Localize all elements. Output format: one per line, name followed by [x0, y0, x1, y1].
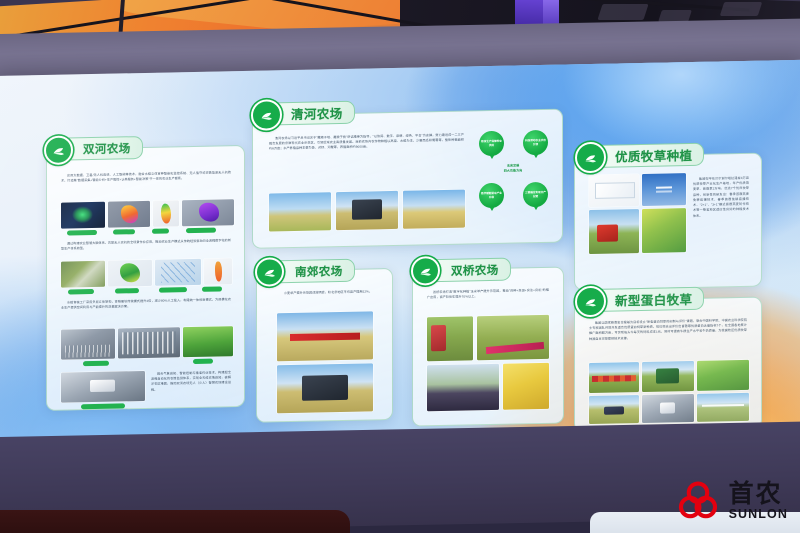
bubble-label: 粮食生产保障安全供给 [479, 140, 504, 148]
photo-soil-map [153, 200, 179, 227]
tab-label-qinghe: 清河农场 [291, 103, 343, 123]
protein-paragraph: 集团以国家粮食安全根基为目标设立"新型蛋白饲草的创制与评价"课题，联合中国科学院… [589, 318, 747, 342]
logo-chinese-name: 首农 [729, 481, 788, 506]
panel-quality-forage: 集团在呼伦贝尔谢尔塔拉建有3万亩优质牧草产业化生产基地，年产优质燕麦草、苜蓿草2… [574, 153, 762, 291]
photo-growth-diagnosis-map [182, 199, 234, 226]
photo-spray-drone [642, 173, 686, 206]
bubble-label: 科技带动农业示范引领 [523, 139, 548, 147]
logo-english-name: SUNLON [729, 508, 788, 521]
photo-seedling-racks [118, 327, 180, 358]
photo-automated-equipment [61, 371, 145, 403]
photo-machinery-parade [589, 362, 639, 393]
photo-forage-package [589, 174, 639, 207]
photo-harvest-machine [642, 394, 694, 423]
panel-nanjiao-farm: 小麦单产提升示范园成效明显，较北京地区平均亩产提高52%。 [256, 268, 393, 423]
photo-farm-field [269, 192, 331, 231]
panel-protein-forage: 集团以国家粮食安全根基为目标设立"新型蛋白饲草的创制与评价"课题，联合中国科学院… [574, 297, 762, 433]
photo-wheat-demo-plot [277, 311, 373, 361]
photo-corn-demo-banner [477, 315, 549, 360]
tab-label-nanjiao: 南郊农场 [295, 263, 343, 280]
sunlon-wordmark: 首农 SUNLON [729, 481, 788, 521]
shuanghe-paragraph-3: 水稻育秧工厂采用多层立体架构，育秧量较传统模式提升2倍，减少80%人工投入，构建… [61, 297, 231, 311]
photo-caption [159, 287, 187, 292]
tab-label-protein: 新型蛋白牧草 [615, 289, 692, 310]
sunlon-trefoil-icon [675, 478, 721, 524]
photo-irrigation-grid [155, 259, 201, 286]
photo-caption [193, 359, 213, 364]
bubble-label: 三链融合实现全产业链 [523, 191, 548, 199]
ceiling-spotlight [720, 2, 763, 16]
photo-nursery-factory [61, 329, 115, 360]
sunlon-logo: 首农 SUNLON [675, 478, 788, 524]
shuangqiao-paragraph: 双桥农场打造"数字化种植"玉米单产提升示范园，推动"良种+良田+良法+良机"的推… [427, 288, 549, 301]
bubble-center-label-line2: 四大功能方向 [491, 168, 535, 173]
photo-caption [83, 361, 109, 366]
panel-qinghe-farm: 清河农场以习近平总书记关于"藏粮于地、藏粮于技"讲话精神为指导，"以协同、数字、… [252, 109, 563, 249]
qinghe-paragraph: 清河农场以习近平总书记关于"藏粮于地、藏粮于技"讲话精神为指导，"以协同、数字、… [269, 133, 464, 153]
photo-caption [115, 288, 139, 293]
bubble-food-security[interactable]: 粮食生产保障安全供给 [479, 131, 504, 157]
photo-caption [68, 289, 94, 294]
photo-caption [113, 229, 135, 234]
shuanghe-paragraph-4: 融合气象感知、智能控制与精准作业技术，构建起全流程自动化的农情监测体系，实现全天… [151, 370, 231, 393]
photo-field-visit [427, 364, 499, 411]
qinghe-function-diagram: 粮食生产保障安全供给 科技带动农业示范引领 数字赋能驱动产业升级 三链融合实现全… [475, 124, 555, 226]
ceiling-spotlight [597, 4, 648, 20]
photo-crop-map [108, 260, 152, 287]
photo-hay-baler [589, 395, 639, 424]
photo-field-aerial [61, 261, 105, 288]
nanjiao-paragraph: 小麦单产提升示范园成效明显，较北京地区平均亩产提高52%。 [271, 289, 379, 296]
floor-shadow-block [0, 510, 350, 533]
tab-label-forage: 优质牧草种植 [615, 145, 692, 166]
photo-remote-sensing-map [108, 201, 150, 228]
photo-yield-chart [204, 258, 232, 285]
photo-caption [152, 228, 169, 233]
bubble-digital[interactable]: 数字赋能驱动产业升级 [479, 183, 504, 209]
photo-forage-harvester [642, 361, 694, 392]
exhibition-photo: 应用大数据、卫星/无人机遥感、人工智能等技术，融合水稻立体育种智能化监控系统、无… [0, 0, 800, 533]
photo-harvester-sunset [336, 191, 398, 230]
led-display-board: 应用大数据、卫星/无人机遥感、人工智能等技术，融合水稻立体育种智能化监控系统、无… [0, 60, 800, 451]
photo-harvest-field [403, 190, 465, 229]
photo-caption [67, 230, 97, 235]
photo-wheat-combine [277, 363, 373, 413]
photo-seedling-trays [183, 326, 233, 357]
shuanghe-paragraph-1: 应用大数据、卫星/无人机遥感、人工智能等技术，融合水稻立体育种智能化监控系统、无… [61, 170, 231, 184]
bubble-technology[interactable]: 科技带动农业示范引领 [523, 130, 548, 156]
panel-shuangqiao-farm: 双桥农场打造"数字化种植"玉米单产提升示范园，推动"良种+良田+良法+良机"的推… [412, 267, 564, 427]
photo-caption [81, 403, 125, 408]
tab-label-shuangqiao: 双桥农场 [451, 261, 499, 278]
photo-red-tractor [589, 209, 639, 254]
photo-forage-field [697, 360, 749, 391]
bubble-label: 数字赋能驱动产业升级 [479, 192, 504, 200]
photo-center-pivot-irrigation [697, 393, 749, 422]
forage-paragraph: 集团在呼伦贝尔谢尔塔拉建有3万亩优质牧草产业化生产基地，年产优质燕麦草、苜蓿草2… [693, 176, 749, 219]
photo-corn-harvester [427, 316, 473, 361]
photo-forage-leaf [642, 208, 686, 253]
panel-shuanghe-farm: 应用大数据、卫星/无人机遥感、人工智能等技术，融合水稻立体育种智能化监控系统、无… [46, 145, 245, 411]
photo-corn-cobs [503, 363, 549, 410]
shuanghe-paragraph-2: 通过构建农业智慧大脑体系，匹配无人农机的全场景作业应用，推动农业生产模式从传统经… [61, 238, 231, 252]
bubble-industry-chain[interactable]: 三链融合实现全产业链 [523, 182, 548, 208]
photo-caption [186, 228, 216, 233]
photo-dashboard [61, 202, 105, 229]
photo-caption [202, 286, 222, 291]
tab-label-shuanghe: 双河农场 [83, 140, 131, 157]
